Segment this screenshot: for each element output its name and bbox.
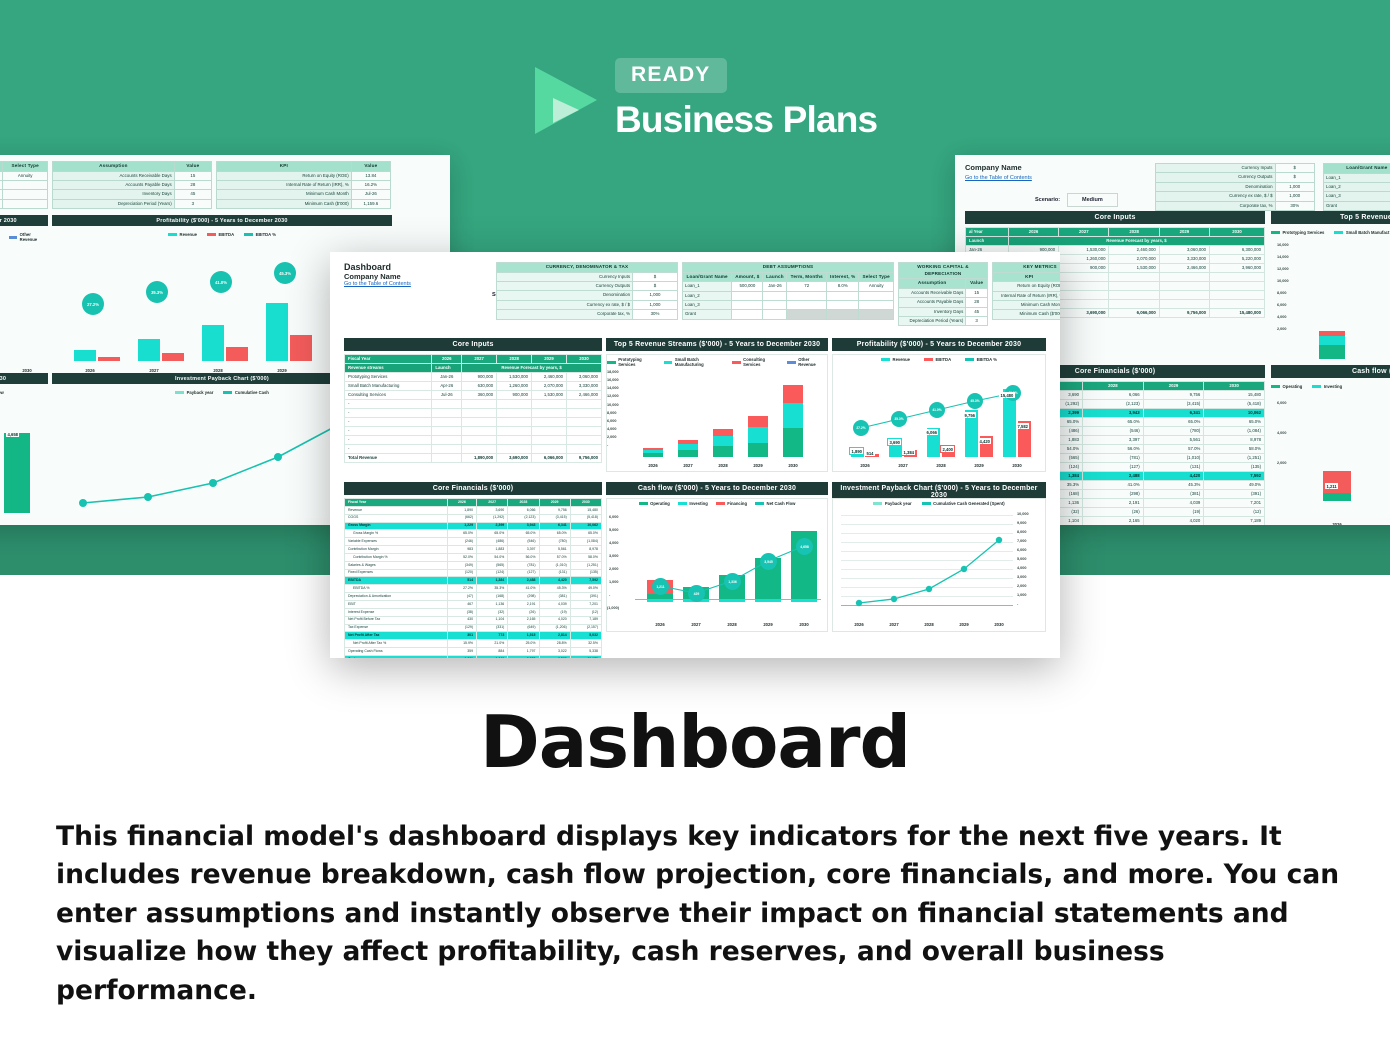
fin-cell: 1,515 [508,632,539,640]
stream-value[interactable]: 1,530,000 [532,391,567,400]
chart-cashflow-right: 6,000 4,000 2,000 1,211 429 2026 2027 [1277,397,1390,515]
fin-row-label: Salaries & Wages [345,561,448,569]
table-row: Net Profit Before Tax4301,1042,1654,0207… [345,616,602,624]
debt-assumptions-mini-left: Amount, $ Launch Term, Months Interest, … [0,161,48,209]
wc-block-title: WORKING CAPITAL & DEPRECIATION [899,263,988,279]
table-row: Depreciation & Amortization(47)(168)(298… [345,593,602,601]
fin-cell: 359 [447,648,476,656]
fin-cell: 65.0% [508,530,539,538]
table-row: Gross Margin %65.0%65.0%65.0%65.0%65.0% [345,530,602,538]
stream-name[interactable]: Small Batch Manufacturing [345,382,432,391]
stream-value[interactable]: 3,060,000 [567,373,602,382]
chart-investment-payback: Payback year Cumulative Cash Generated (… [832,498,1046,632]
dashboard-window[interactable]: Dashboard Company Name Go to the Table o… [330,252,1060,658]
stream-name[interactable]: Prototyping Services [345,373,432,382]
legend-operating-right: Operating [1271,384,1302,389]
profitability-chart-band: Profitability ($'000) - 5 Years to Decem… [832,338,1046,351]
bubble-netcf-2030: 4,658 [796,538,813,555]
fin-cell: 1,211 [447,655,476,658]
fin-cell: (331) [477,624,508,632]
xtick: 2027 [680,622,712,627]
year-col: 2029 [532,355,567,364]
stream-launch[interactable]: Apr-26 [432,382,462,391]
fin-row-label: EBIT [345,600,448,608]
fin-cell: (47) [447,593,476,601]
xtick: 2027 [887,463,919,468]
bar-2026-consulting [643,448,663,450]
table-row: Small Batch Manufacturing Apr-26 630,000… [345,382,602,391]
legend-investing-right: Investing [1312,384,1342,389]
fin-cell: 467 [447,600,476,608]
dlabel-ebitda-2027: 1,384 [902,449,915,456]
scenario-value-right[interactable]: Medium [1067,193,1118,207]
fin-cell: (19) [539,608,570,616]
currency-row-value[interactable]: $ [633,272,678,281]
fin-cell: 32.5% [570,640,601,648]
year-col: 2029 [539,499,570,507]
fin-cell: (1,292) [477,514,508,522]
band-cashflow-right: Cash flow ($'000) - 5 Y [1271,365,1390,378]
bar-2026-prototyping [643,453,663,457]
bar-2030-prototyping [783,428,803,457]
fin-cell: 1,384 [477,577,508,585]
kpi-cell-label: Internal Rate of Return (IRR), % [993,291,1061,300]
fin-cell: (662) [447,514,476,522]
xtick: 2027 [879,622,909,627]
fin-cell: (135) [570,569,601,577]
table-row: Depreciation Period (Years)3 [899,317,988,326]
legend-cumulative: Cumulative Cash [223,390,268,395]
table-row: Consulting Services Jul-26 360,000 900,0… [345,391,602,400]
fin-cell: (381) [539,593,570,601]
bubble-netcf-2028: 1,336 [724,573,741,590]
dlabel-revenue-2030: 15,480 [999,392,1015,398]
table-row: Prototyping Services Jan-26 900,000 1,53… [345,373,602,382]
fin-cell: 35.3% [477,585,508,593]
fin-row-label: Contribution Margin % [345,553,448,561]
fin-row-label: Net Profit After Tax % [345,640,448,648]
cumulative-cash-line [841,515,1013,615]
stream-value[interactable]: 3,330,000 [567,382,602,391]
currency-row-value[interactable]: 30% [633,310,678,319]
xtick: 2027 [673,463,703,468]
xtick: 2028 [708,463,738,468]
bubble-netcf-2026: 1,211 [652,578,669,595]
xtick: 2029 [963,463,995,468]
fin-cell: (168) [477,593,508,601]
table-row: Gross Margin1,2292,3993,9436,34110,062 [345,522,602,530]
chart-top5-left: 2026 2027 2028 2029 2030 [0,241,44,361]
dlabel-revenue-2027: 3,690 [887,438,902,446]
kpi-cell-label: Minimum Cash Month [993,301,1061,310]
table-row: COGS(662)(1,292)(2,123)(3,415)(5,418) [345,514,602,522]
working-capital-mini-left: AssumptionValue Accounts Receivable Days… [52,161,212,209]
fin-cell: 57.0% [539,553,570,561]
fin-cell: 65.0% [539,530,570,538]
dashboard-title: Dashboard [344,262,411,272]
table-row: Grant [683,310,894,319]
core-financials-table[interactable]: Fiscal Year 2026 2027 2028 2029 2030 Rev… [344,498,602,658]
fin-cell: (1,010) [539,561,570,569]
stream-name[interactable]: - [345,418,432,427]
legend-consulting-services: Consulting Services [732,357,782,367]
table-row: Interest Expense(38)(32)(26)(19)(12) [345,608,602,616]
bubble-ebitda-pct-2027: 35.3% [891,411,907,427]
year-col: 2026 [432,355,462,364]
fin-cell: (120) [447,569,476,577]
wc-col-value: Value [966,279,988,289]
bar-2030-smallbatch [783,403,803,427]
fin-cell: 3,022 [539,648,570,656]
debt-cell[interactable]: 500,000 [732,282,763,291]
wc-cell-value[interactable]: 3 [966,317,988,326]
fin-cell: 2,191 [508,600,539,608]
bar-2029-smallbatch [748,427,768,443]
fin-row-label: Cash [345,655,448,658]
table-row: Accounts Receivable Days15 [899,288,988,297]
toc-link-right[interactable]: Go to the Table of Contents [965,175,1032,181]
table-row: - [345,418,602,427]
fin-row-label: Depreciation & Amortization [345,593,448,601]
fin-cell: 45.3% [539,585,570,593]
brand-logo: READY Business Plans [527,58,927,158]
fin-cell: (349) [447,561,476,569]
legend-financing: Financing [716,501,747,506]
fin-cell: 58.0% [570,553,601,561]
fin-cell: 4,020 [539,616,570,624]
fin-cell: (298) [508,593,539,601]
wc-cell-value[interactable]: 28 [966,298,988,307]
debt-cell[interactable]: Loan_1 [683,282,732,291]
fin-cell: 4,039 [539,600,570,608]
fin-cell: 28.8% [539,640,570,648]
legend-ebitda: EBITDA [924,357,951,362]
total-revenue-label: Total Revenue [345,454,432,463]
fin-cell: (129) [447,624,476,632]
bubble-netcf-2027: 429 [688,585,705,602]
debt-col-type: Select Type [859,272,894,282]
table-row: Tax Expense(129)(331)(649)(1,206)(2,157) [345,624,602,632]
debt-col-launch: Launch [763,272,787,282]
fin-cell: (124) [477,569,508,577]
fin-cell: 8,978 [570,546,601,554]
key-metrics-table: KEY METRICS KPIValue Return on Equity (R… [992,262,1060,320]
debt-col-interest: Interest, % [827,272,859,282]
fin-cell: 5,032 [570,632,601,640]
core-inputs-table[interactable]: Fiscal Year 2026 2027 2028 2029 2030 Rev… [344,354,602,463]
debt-cell[interactable]: 8.0% [827,282,859,291]
table-row: Contribution Margin9831,8833,3975,5618,9… [345,546,602,554]
bar-2027-consulting [678,440,698,444]
total-revenue-value: 9,756,000 [567,454,602,463]
bar-2029-prototyping [748,443,768,457]
table-row: Inventory Days45 [899,307,988,316]
fin-row-label: Contribution Margin [345,546,448,554]
brand-name: Business Plans [615,99,877,141]
year-col: 2030 [570,499,601,507]
fin-cell: (391) [570,593,601,601]
stream-value[interactable]: 630,000 [462,382,497,391]
legend-net-cash-flow: Net Cash Flow [755,501,795,506]
forecast-header: Revenue Forecast by years, $ [462,364,602,373]
fin-cell: 2,399 [477,522,508,530]
fin-row-label: EBITDA % [345,585,448,593]
fin-row-label: Gross Margin % [345,530,448,538]
debt-cell[interactable]: Annuity [859,282,894,291]
legend-revenue: Revenue [168,232,197,237]
fin-cell: 25.0% [508,640,539,648]
core-financials-band: Core Financials ($'000) [344,482,602,495]
debt-mini-right: Loan/Grant NameAmount, $Launch Loan_1500… [1323,163,1390,211]
revenue-streams-label: Revenue streams [345,364,432,373]
dlabel-revenue-2029: 9,756 [963,412,976,418]
fin-cell: (32) [477,608,508,616]
fin-cell: 7,189 [570,616,601,624]
fin-cell: (2,157) [570,624,601,632]
table-row: Net Profit After Tax3017731,5152,8145,03… [345,632,602,640]
bar-2029-consulting [748,416,768,428]
table-row: Fixed Expenses(120)(124)(127)(131)(135) [345,569,602,577]
chart-profitability-plot: 27.2% 35.3% 41.0% 45.3% 49.0% 1,890 514 … [843,371,1041,457]
fin-cell: (781) [508,561,539,569]
xtick: 2029 [743,463,773,468]
debt-cell[interactable]: Jan-26 [763,282,787,291]
stream-value[interactable]: 2,460,000 [532,373,567,382]
bar-2028-prototyping [713,446,733,458]
fin-cell: 2,165 [508,616,539,624]
stream-value[interactable]: 900,000 [497,391,532,400]
fin-cell: 65.0% [477,530,508,538]
stream-launch[interactable]: Jul-26 [432,391,462,400]
band-top5-right: Top 5 Revenue Streams ($'00 [1271,211,1390,224]
legend-smallbatch-right: Small Batch Manufact [1334,230,1389,235]
stream-value[interactable]: 360,000 [462,391,497,400]
currency-row-label: Denomination [497,291,633,300]
scenario-label-right: Scenario: [1035,197,1060,203]
fin-cell: 301 [447,632,476,640]
dlabel-ebitda-2028: 2,400 [940,445,955,453]
fin-row-label: Fixed Expenses [345,569,448,577]
fin-cell: 983 [447,546,476,554]
fin-cell: 5,561 [539,546,570,554]
fin-cell: 3,397 [508,546,539,554]
currency-row-value[interactable]: 1,000 [633,291,678,300]
fin-cell: 884 [477,648,508,656]
fin-cell: 1,136 [477,600,508,608]
core-inputs-subheader-row: Revenue streams Launch Revenue Forecast … [345,364,602,373]
table-row: EBIT4671,1362,1914,0397,201 [345,600,602,608]
fin-cell: (780) [539,538,570,546]
table-row: Loan_3 [683,301,894,310]
table-row: EBITDA5141,3842,4884,4207,592 [345,577,602,585]
fin-cell: 49.0% [570,585,601,593]
legend-payback-year: Payback year [873,501,911,506]
stream-value[interactable]: 1,260,000 [497,382,532,391]
stream-value[interactable]: 2,070,000 [532,382,567,391]
table-row: Loan_1 500,000 Jan-26 72 8.0% Annuity [683,282,894,291]
fin-row-label: Revenue [345,506,448,514]
fin-cell: 7,201 [570,600,601,608]
table-row: - [345,445,602,454]
debt-block-title: DEBT ASSUMPTIONS [683,263,894,273]
debt-col-amount: Amount, $ [732,272,763,282]
chart-cashflow-plot: 6,000 5,000 4,000 3,000 2,000 1,000 - (1… [635,515,821,615]
table-row: Minimum Cash MonthJul-26 [993,301,1061,310]
stream-value[interactable]: 900,000 [462,373,497,382]
currency-row-value[interactable]: $ [633,282,678,291]
currency-row-value[interactable]: 1,000 [633,300,678,309]
table-row: Loan_2 [683,291,894,300]
fin-row-label: Interest Expense [345,608,448,616]
kpi-block-title: KEY METRICS [993,263,1061,273]
fin-cell: 54.0% [477,553,508,561]
legend-payback-year: Payback year [175,390,213,395]
bar-2030-consulting [783,385,803,404]
chart-top5-right: 16,000 14,000 12,000 10,000 8,000 6,000 … [1277,241,1390,359]
table-row: Contribution Margin %52.0%54.0%56.0%57.0… [345,553,602,561]
fin-cell: 1,890 [447,506,476,514]
fiscal-year-label: Fiscal Year [345,355,432,364]
debt-cell[interactable]: Loan_2 [683,291,732,300]
stream-value[interactable]: 2,466,000 [567,391,602,400]
fin-cell: 7,592 [570,577,601,585]
table-row: Variable Expenses(246)(486)(546)(780)(1,… [345,538,602,546]
top5-chart-band: Top 5 Revenue Streams ($'000) - 5 Years … [606,338,828,351]
dlabel-revenue-2026: 1,890 [849,447,864,455]
fin-row-label: Variable Expenses [345,538,448,546]
total-revenue-value: 1,890,000 [462,454,497,463]
legend-ebitda-percent: EBITDA % [965,357,997,362]
stream-name[interactable]: - [345,436,432,445]
fin-row-label: Net Profit Before Tax [345,616,448,624]
chart-payback-plot: 10,000 9,000 8,000 7,000 6,000 5,000 4,0… [841,515,1013,615]
chart-top5-plot: 18,000 16,000 14,000 12,000 10,000 8,000… [633,373,821,457]
xtick: 2028 [914,622,944,627]
legend-operating: Operating [639,501,670,506]
table-row: - [345,400,602,409]
kpi-col-kpi: KPI [993,272,1061,282]
fin-row-label: EBITDA [345,577,448,585]
xtick: 2029 [949,622,979,627]
chart-cashflow-left: 1,211 429 1,336 3,545 4,658 [0,403,44,513]
kpi-cell-label: Minimum Cash ($'000) [993,310,1061,319]
fin-cell: (12) [570,608,601,616]
xtick: 2026 [638,463,668,468]
fin-cell: 1,104 [477,616,508,624]
fin-cell: 3,943 [508,522,539,530]
currency-row-label: Currency ex rate, $ / $ [497,300,633,309]
bar-2026-smallbatch [643,450,663,453]
table-row: Internal Rate of Return (IRR), %16.2% [993,291,1061,300]
currency-row-label: Currency Outputs [497,282,633,291]
legend-ebitda-pct: EBITDA % [244,232,276,237]
band-core-inputs-right: Core Inputs [965,211,1265,224]
fin-cell: 6,522 [539,655,570,658]
table-row: - [345,409,602,418]
fin-cell: (2,123) [508,514,539,522]
key-metrics-mini-left: KPIValue Return on Equity (ROE)13.84 Int… [216,161,391,209]
fin-cell: 4,420 [539,577,570,585]
fin-cell: 9,756 [539,506,570,514]
debt-col-term: Term, Months [787,272,827,282]
xtick: 2028 [925,463,957,468]
legend-other-revenue: Other Revenue [787,357,827,367]
stream-name[interactable]: - [345,400,432,409]
stream-name[interactable]: Consulting Services [345,391,432,400]
working-capital-table: WORKING CAPITAL & DEPRECIATION Assumptio… [898,262,988,326]
toc-link[interactable]: Go to the Table of Contents [344,281,411,287]
stream-name[interactable]: - [345,427,432,436]
fiscal-year-label: Fiscal Year [345,499,448,507]
chart-cash-flow: Operating Investing Financing Net Cash F… [606,498,828,632]
wc-cell-value[interactable]: 15 [966,288,988,297]
stream-name[interactable]: - [345,409,432,418]
fin-cell: 11,180 [570,655,601,658]
table-row: Minimum Cash ($'000)1,159.6 [993,310,1061,319]
fin-cell: 56.0% [508,553,539,561]
fin-cell: 3,690 [477,506,508,514]
table-row: Net Profit After Tax %15.9%21.0%25.0%28.… [345,640,602,648]
debt-cell[interactable]: Grant [683,310,732,319]
fin-cell: (565) [477,561,508,569]
legend-revenue: Revenue [881,357,910,362]
chart-top5-revenue: Prototyping Services Small Batch Manufac… [606,354,828,472]
wc-cell-value[interactable]: 45 [966,307,988,316]
play-triangle-icon [527,62,605,140]
fin-cell: (649) [508,624,539,632]
fin-cell: (1,084) [570,538,601,546]
dlabel-ebitda-2026: 514 [865,450,875,457]
launch-label: Launch [432,364,462,373]
band-top5-left: Revenue Streams ($'000) - 5 Years to Dec… [0,215,48,226]
fin-cell: 6,066 [508,506,539,514]
currency-denominator-tax-table: CURRENCY, DENOMINATOR & TAX Currency Inp… [496,262,678,320]
fin-cell: 41.0% [508,585,539,593]
year-col: 2030 [567,355,602,364]
fin-cell: (546) [508,538,539,546]
currency-mini-right: Currency Inputs$ Currency Outputs$ Denom… [1155,163,1315,211]
xtick: 2028 [716,622,748,627]
fin-cell: (486) [477,538,508,546]
currency-block-title: CURRENCY, DENOMINATOR & TAX [497,263,678,273]
bubble-ebitda-pct-2026: 27.2% [853,420,869,436]
bubble-netcf-2029: 3,545 [760,553,777,570]
bubble-ebitda-pct-2028: 41.0% [929,402,945,418]
fin-cell: (38) [447,608,476,616]
table-row: Operating Cash Flows3598841,7973,0225,33… [345,648,602,656]
fin-cell: (131) [539,569,570,577]
fin-cell: 1,640 [477,655,508,658]
debt-cell[interactable]: Loan_3 [683,301,732,310]
table-row: Revenue1,8903,6906,0669,75615,480 [345,506,602,514]
debt-cell[interactable]: 72 [787,282,827,291]
stream-name[interactable]: - [345,445,432,454]
table-row: - [345,436,602,445]
xtick: 2029 [752,622,784,627]
table-row: Return on Equity (ROE)13.84 [993,282,1061,291]
fin-cell: (26) [508,608,539,616]
wc-cell-label: Accounts Payable Days [899,298,966,307]
legend-cumulative-cash: Cumulative Cash Generated (Spent) [922,501,1005,506]
wc-cell-label: Depreciation Period (Years) [899,317,966,326]
table-row: EBITDA %27.2%35.3%41.0%45.3%49.0% [345,585,602,593]
xtick: 2030 [788,622,820,627]
cashflow-chart-band: Cash flow ($'000) - 5 Years to December … [606,482,828,495]
stream-launch[interactable]: Jan-26 [432,373,462,382]
dlabel-revenue-2028: 6,066 [925,429,938,435]
year-col: 2028 [508,499,539,507]
stream-value[interactable]: 1,530,000 [497,373,532,382]
